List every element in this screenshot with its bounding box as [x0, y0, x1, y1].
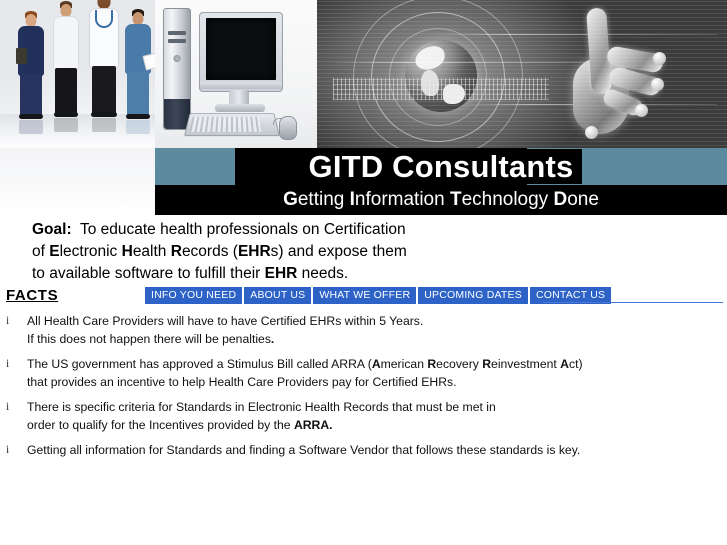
fact-text: All Health Care Providers will have to h… — [27, 312, 727, 330]
facts-heading: FACTS — [6, 286, 58, 306]
list-item: i All Health Care Providers will have to… — [0, 312, 727, 349]
fact-text: The US government has approved a Stimulu… — [27, 355, 727, 373]
shoes — [19, 114, 43, 119]
fact2-cap-r2: R — [482, 357, 491, 371]
goal-l3-ehr: EHR — [265, 265, 298, 282]
goal-l2-e: ealth — [133, 243, 171, 260]
legs — [55, 68, 77, 114]
tagline-cap-g: G — [283, 189, 298, 210]
facts-list: i All Health Care Providers will have to… — [0, 312, 727, 459]
goal-l2-i: s) and expose them — [271, 243, 407, 260]
list-item: i The US government has approved a Stimu… — [0, 355, 727, 392]
shoes — [54, 112, 78, 117]
computer-monitor — [199, 12, 283, 92]
goal-line-2: of Electronic Health Records (EHRs) and … — [32, 241, 672, 263]
goal-l3-c: needs. — [297, 265, 348, 282]
reflection — [126, 120, 150, 134]
legs — [127, 72, 149, 116]
tagline-cap-t: T — [450, 189, 462, 210]
goal-l2-cap-h: H — [122, 243, 133, 260]
header-banner: GITD Consultants Getting Information Tec… — [0, 0, 727, 215]
torso — [53, 16, 79, 70]
fact2-cap-r: R — [427, 357, 436, 371]
fact2-w1: merican — [381, 357, 428, 371]
facts-nav-row: FACTS INFO YOU NEED ABOUT US WHAT WE OFF… — [0, 286, 727, 308]
clipboard-icon — [16, 48, 27, 64]
nav-about-us[interactable]: ABOUT US — [244, 287, 311, 304]
list-item: i There is specific criteria for Standar… — [0, 398, 727, 435]
goal-l2-c: lectronic — [60, 243, 122, 260]
tagline-word-technology: echnology — [462, 189, 554, 210]
fact3-sub-a: order to qualify for the Incentives prov… — [27, 418, 294, 432]
main-navigation[interactable]: INFO YOU NEED ABOUT US WHAT WE OFFER UPC… — [145, 287, 611, 304]
tagline-cap-d: D — [553, 189, 567, 210]
fact-subtext-a: If this does not happen there will be pe… — [27, 332, 271, 346]
fact-subtext: that provides an incentive to help Healt… — [27, 373, 727, 392]
goal-l2-cap-r: R — [171, 243, 182, 260]
computer-mouse — [279, 116, 297, 140]
tagline-word-getting: etting — [298, 189, 350, 210]
monitor-screen — [206, 18, 276, 80]
site-title-bar: GITD Consultants Getting Information Tec… — [155, 148, 727, 215]
drive-bay — [168, 39, 186, 43]
monitor-bezel — [200, 82, 282, 89]
tagline-word-done: one — [567, 189, 599, 210]
fact2-w4: ct) — [569, 357, 583, 371]
page-title: GITD Consultants — [155, 149, 727, 185]
goal-statement: Goal: To educate health professionals on… — [32, 219, 672, 285]
medical-team-photo — [0, 0, 155, 150]
scanline-overlay — [317, 0, 727, 150]
person-nurse-blue — [122, 12, 154, 132]
nav-underline-rule — [543, 302, 723, 303]
power-button-icon — [174, 55, 181, 62]
nav-what-we-offer[interactable]: WHAT WE OFFER — [313, 287, 416, 304]
banner-left-filler — [0, 148, 155, 215]
nav-info-you-need[interactable]: INFO YOU NEED — [145, 287, 242, 304]
nav-upcoming-dates[interactable]: UPCOMING DATES — [418, 287, 528, 304]
page-title-text: GITD Consultants — [300, 149, 583, 184]
goal-label: Goal: — [32, 221, 72, 238]
computer-keyboard — [184, 113, 280, 136]
fact-subtext-period: . — [271, 332, 274, 346]
fact2-cap-a: A — [372, 357, 381, 371]
fact-text: Getting all information for Standards an… — [27, 441, 727, 459]
goal-l2-g: ecords ( — [182, 243, 238, 260]
technology-globe-hand-photo — [317, 0, 727, 150]
person-doctor-whitecoat — [48, 4, 84, 132]
desktop-computer-photo — [155, 0, 317, 150]
shoes — [91, 112, 117, 117]
shoes — [126, 114, 150, 119]
goal-l2-ehr: EHR — [238, 243, 271, 260]
goal-l3-a: to available software to fulfill their — [32, 265, 265, 282]
person-doctor-stethoscope — [84, 0, 124, 132]
goal-l2-cap-e: E — [49, 243, 59, 260]
reflection — [92, 118, 116, 132]
fact2-w3: einvestment — [491, 357, 560, 371]
legs — [20, 74, 42, 116]
fact-text: There is specific criteria for Standards… — [27, 398, 727, 416]
goal-line-1: Goal: To educate health professionals on… — [32, 219, 672, 241]
bullet-icon: i — [6, 441, 9, 459]
stethoscope-icon — [95, 10, 113, 28]
goal-line-1-text: To educate health professionals on Certi… — [72, 221, 406, 238]
fact2-cap-a2: A — [560, 357, 569, 371]
reflection — [19, 120, 43, 134]
page-tagline: Getting Information Technology Done — [155, 188, 727, 212]
bullet-icon: i — [6, 355, 9, 373]
drive-bay — [168, 31, 186, 35]
fact2-pre: The US government has approved a Stimulu… — [27, 357, 372, 371]
bullet-icon: i — [6, 398, 9, 416]
legs — [92, 66, 116, 114]
fact3-arra: ARRA. — [294, 418, 333, 432]
computer-tower — [163, 8, 191, 130]
bullet-icon: i — [6, 312, 9, 330]
fact-subtext: If this does not happen there will be pe… — [27, 330, 727, 349]
goal-line-3: to available software to fulfill their E… — [32, 263, 672, 285]
keyboard-keys — [189, 117, 261, 132]
tagline-word-information: nformation — [355, 189, 450, 210]
person-nurse-navy — [14, 14, 48, 132]
list-item: i Getting all information for Standards … — [0, 441, 727, 459]
monitor-stand-foot — [215, 104, 265, 112]
fact2-w2: ecovery — [436, 357, 482, 371]
goal-l2-a: of — [32, 243, 49, 260]
reflection — [54, 118, 78, 132]
fact-subtext: order to qualify for the Incentives prov… — [27, 416, 727, 435]
